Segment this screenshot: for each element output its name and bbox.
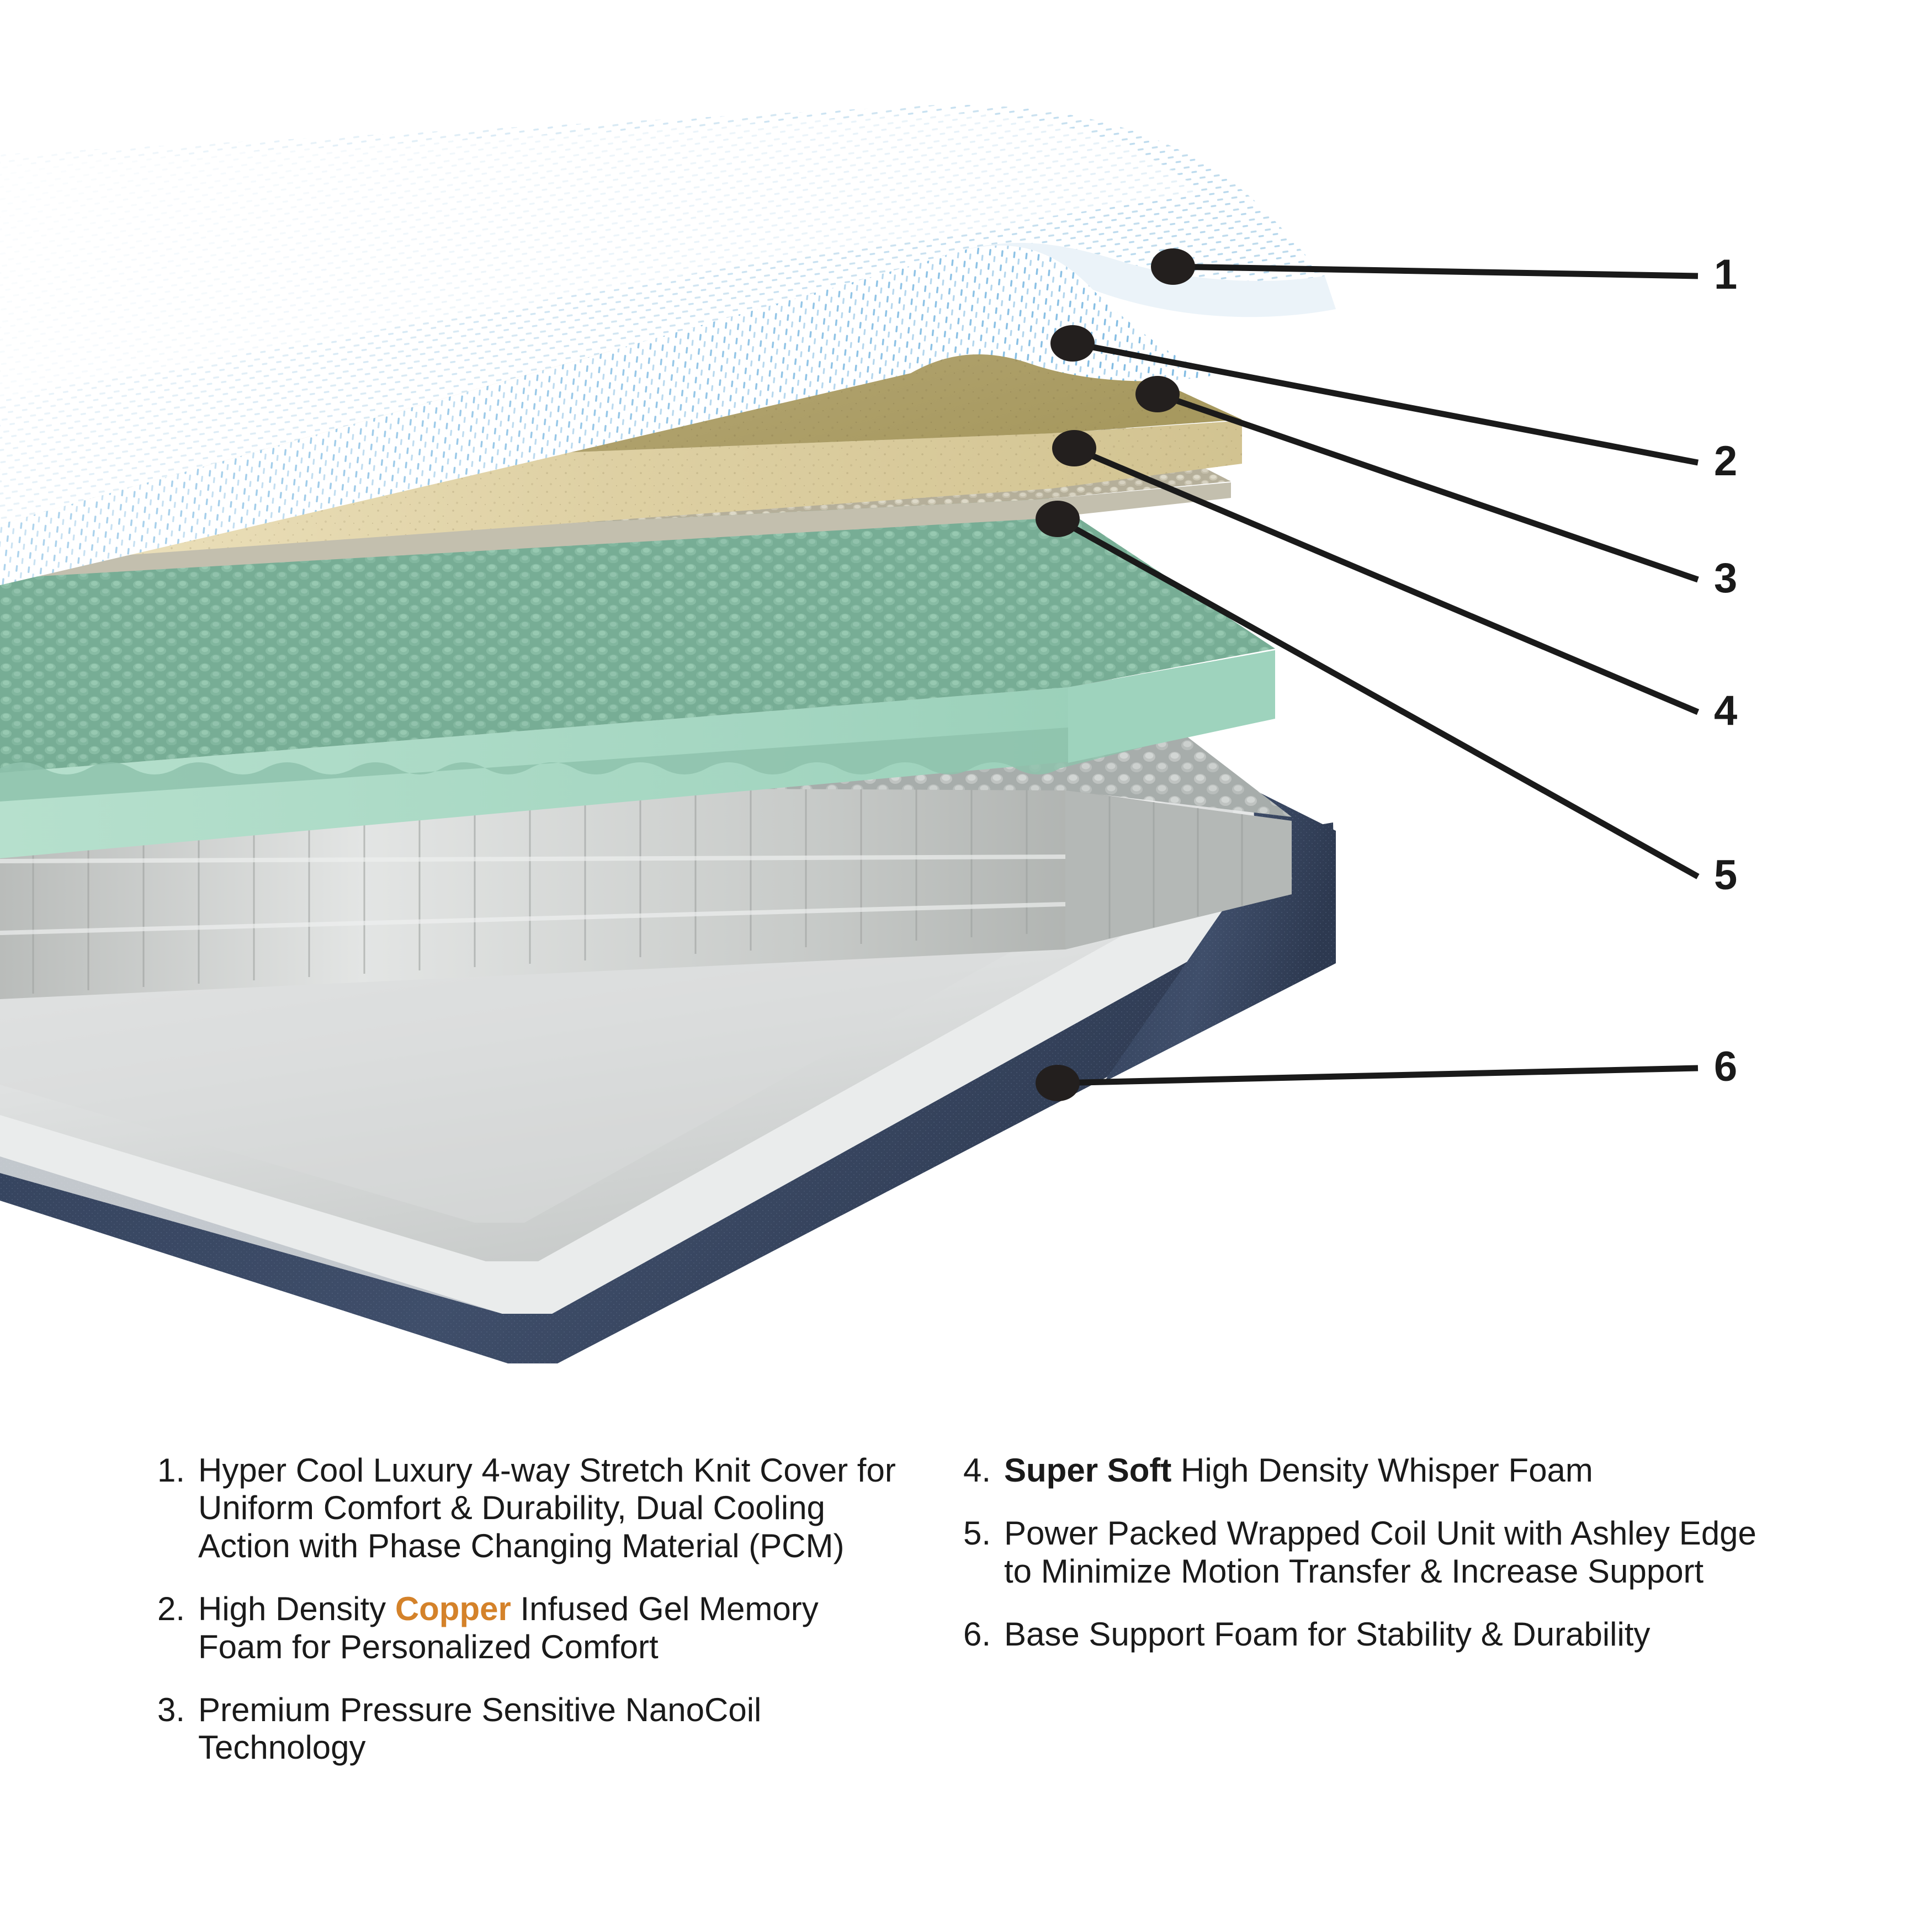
leader-line-3 (1158, 394, 1698, 580)
layer-legend: 1. Hyper Cool Luxury 4-way Stretch Knit … (0, 1452, 1932, 1838)
callout-dot-3 (1135, 376, 1180, 412)
legend-text-1: Hyper Cool Luxury 4-way Stretch Knit Cov… (198, 1452, 908, 1565)
legend-text-6: Base Support Foam for Stability & Durabi… (1004, 1616, 1791, 1653)
legend-item-4: 4. Super Soft High Density Whisper Foam (963, 1452, 1791, 1489)
legend-text-2: High Density Copper Infused Gel Memory F… (198, 1590, 908, 1666)
callout-number-1: 1 (1714, 254, 1737, 296)
callout-dot-5 (1036, 501, 1080, 537)
legend-item-6: 6. Base Support Foam for Stability & Dur… (963, 1616, 1791, 1653)
legend-text-3: Premium Pressure Sensitive NanoCoil Tech… (198, 1691, 908, 1767)
callout-dot-1 (1151, 248, 1195, 285)
legend-number-1: 1. (157, 1452, 198, 1489)
legend-number-3: 3. (157, 1691, 198, 1729)
legend-number-5: 5. (963, 1515, 1004, 1552)
legend-text-2-copper: Copper (395, 1590, 511, 1627)
legend-item-3: 3. Premium Pressure Sensitive NanoCoil T… (157, 1691, 908, 1767)
callout-number-6: 6 (1714, 1046, 1737, 1088)
callout-number-5: 5 (1714, 854, 1737, 896)
legend-text-4-bold: Super Soft (1004, 1452, 1171, 1489)
callout-number-2: 2 (1714, 440, 1737, 482)
legend-item-2: 2. High Density Copper Infused Gel Memor… (157, 1590, 908, 1666)
callout-number-3: 3 (1714, 558, 1737, 599)
leader-line-6 (1058, 1068, 1698, 1083)
legend-text-5: Power Packed Wrapped Coil Unit with Ashl… (1004, 1515, 1791, 1590)
legend-left-column: 1. Hyper Cool Luxury 4-way Stretch Knit … (157, 1452, 908, 1792)
mattress-layer-illustration (0, 0, 1932, 1408)
legend-number-2: 2. (157, 1590, 198, 1628)
callout-number-4: 4 (1714, 690, 1737, 732)
legend-number-4: 4. (963, 1452, 1004, 1489)
legend-text-2-a: High Density (198, 1590, 395, 1627)
callout-dot-2 (1050, 325, 1095, 362)
legend-text-4-rest: High Density Whisper Foam (1171, 1452, 1593, 1489)
legend-right-column: 4. Super Soft High Density Whisper Foam … (963, 1452, 1791, 1679)
callout-dot-4 (1052, 430, 1096, 466)
legend-item-5: 5. Power Packed Wrapped Coil Unit with A… (963, 1515, 1791, 1590)
legend-number-6: 6. (963, 1616, 1004, 1653)
callout-dot-6 (1036, 1065, 1080, 1101)
legend-text-4: Super Soft High Density Whisper Foam (1004, 1452, 1791, 1489)
legend-item-1: 1. Hyper Cool Luxury 4-way Stretch Knit … (157, 1452, 908, 1565)
